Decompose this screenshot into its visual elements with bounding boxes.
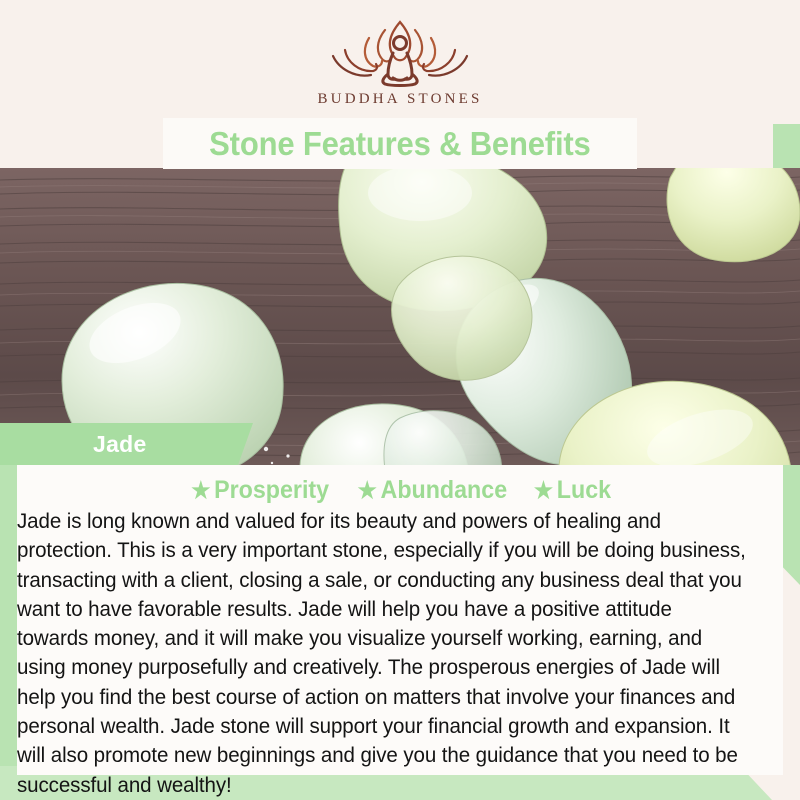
star-icon: ★ (191, 477, 210, 503)
brand-name: BUDDHA STONES (0, 91, 800, 108)
stone-photo (0, 168, 800, 465)
benefit-item-luck: ★Luck (534, 476, 611, 505)
lotus-meditation-icon (0, 16, 800, 88)
benefit-label: Luck (557, 476, 611, 504)
star-icon: ★ (358, 477, 377, 503)
benefit-item-prosperity: ★Prosperity (191, 476, 329, 505)
star-icon: ★ (534, 477, 553, 503)
page-title: Stone Features & Benefits (209, 125, 590, 163)
content-panel: ★Prosperity ★Abundance ★Luck Jade is lon… (17, 465, 783, 775)
benefits-list: ★Prosperity ★Abundance ★Luck (17, 476, 783, 505)
infographic-page: BUDDHA STONES Stone Features & Benefits (0, 0, 800, 800)
benefit-label: Prosperity (214, 476, 329, 504)
benefit-label: Abundance (381, 476, 508, 504)
page-title-banner: Stone Features & Benefits (163, 118, 637, 169)
stone-name: Jade (93, 431, 147, 458)
benefit-item-abundance: ★Abundance (358, 476, 507, 505)
brand-header: BUDDHA STONES (0, 0, 800, 124)
description-paragraph: Jade is long known and valued for its be… (17, 507, 749, 800)
brand-logo: BUDDHA STONES (0, 16, 800, 108)
stone-name-banner: Jade (0, 423, 253, 465)
